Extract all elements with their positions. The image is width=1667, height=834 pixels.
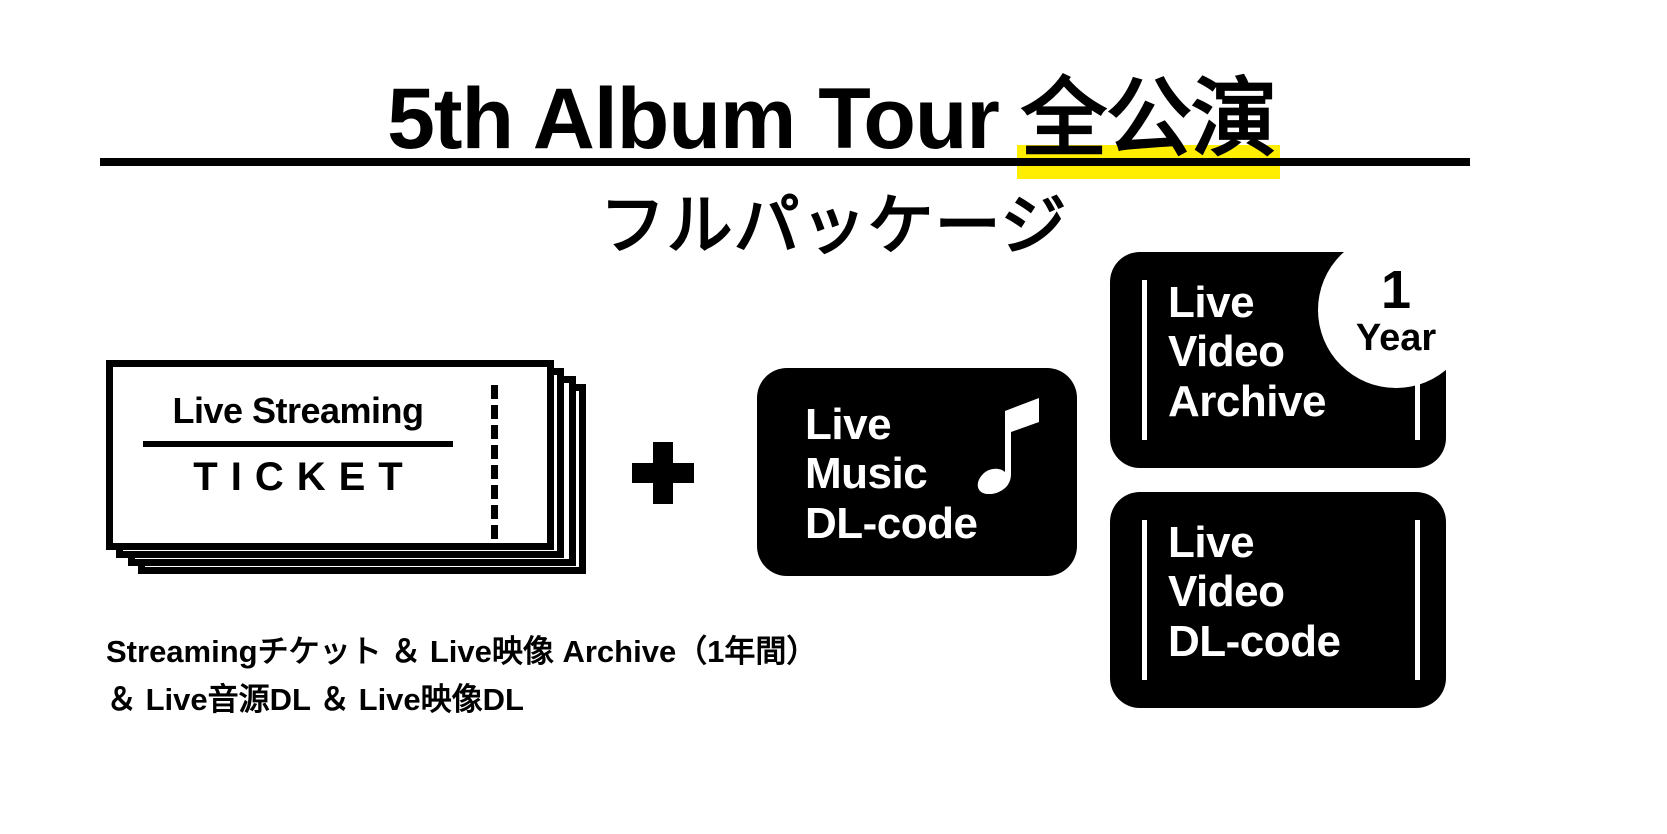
package-caption: Streamingチケット ＆ Live映像 Archive（1年間） ＆ Li… xyxy=(106,628,1006,724)
caption-line-1: Streamingチケット ＆ Live映像 Archive（1年間） xyxy=(106,628,1006,676)
music-note-icon xyxy=(969,398,1043,494)
ticket-text-block: Live Streaming TICKET xyxy=(143,393,453,497)
archive-line-3: Archive xyxy=(1168,377,1326,426)
ticket-perforation-line xyxy=(491,385,498,539)
ticket-stack: Live Streaming TICKET xyxy=(106,360,606,590)
title-divider-rule xyxy=(100,158,1470,166)
ticket-line-live-streaming: Live Streaming xyxy=(143,393,453,439)
one-year-badge: 1 Year xyxy=(1318,232,1474,388)
dlcode-line-1: Live xyxy=(1168,518,1341,567)
archive-line-1: Live xyxy=(1168,278,1326,327)
live-music-line-2: Music xyxy=(805,449,978,498)
badge-number: 1 xyxy=(1381,263,1411,317)
live-video-dl-code-card: Live Video DL-code xyxy=(1110,492,1446,708)
title-english: 5th Album Tour xyxy=(387,70,999,169)
ticket-face: Live Streaming TICKET xyxy=(113,367,547,543)
poster-canvas: 5th Album Tour 全公演 フルパッケージ Live Streamin… xyxy=(0,0,1667,834)
dlcode-left-rule xyxy=(1142,520,1147,680)
live-music-dl-code-card: Live Music DL-code xyxy=(757,368,1077,576)
ticket-text-divider xyxy=(143,441,453,447)
live-music-dl-code-text: Live Music DL-code xyxy=(805,400,978,548)
live-music-line-3: DL-code xyxy=(805,499,978,548)
archive-left-rule xyxy=(1142,280,1147,440)
plus-icon xyxy=(632,442,694,504)
caption-line-2: ＆ Live音源DL ＆ Live映像DL xyxy=(106,676,1006,724)
archive-line-2: Video xyxy=(1168,327,1326,376)
live-video-dl-code-text: Live Video DL-code xyxy=(1168,518,1341,666)
live-video-archive-text: Live Video Archive xyxy=(1168,278,1326,426)
ticket-front: Live Streaming TICKET xyxy=(106,360,554,550)
dlcode-line-3: DL-code xyxy=(1168,617,1341,666)
badge-unit: Year xyxy=(1356,319,1436,357)
dlcode-line-2: Video xyxy=(1168,567,1341,616)
dlcode-right-rule xyxy=(1415,520,1420,680)
ticket-line-ticket: TICKET xyxy=(143,457,453,497)
live-music-line-1: Live xyxy=(805,400,978,449)
